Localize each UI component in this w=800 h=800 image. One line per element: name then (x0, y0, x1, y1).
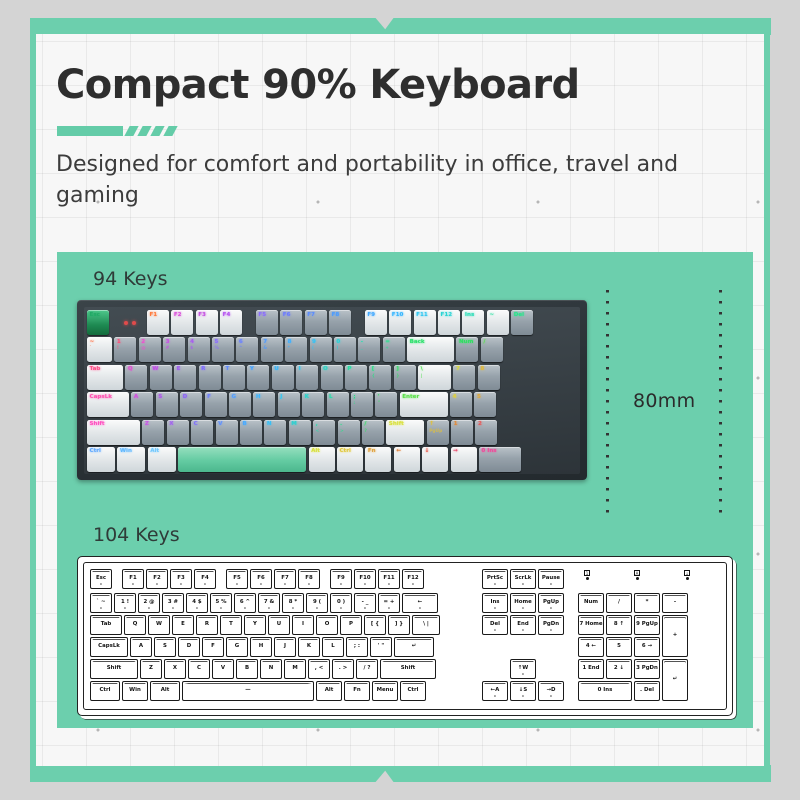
keycap-label: X (169, 422, 173, 428)
keycap-outline: ; : (346, 637, 368, 657)
keycap-label: ↓ (425, 449, 430, 455)
keycap-label: 1 (117, 340, 121, 346)
keycap-outline-label: Tab (101, 622, 111, 627)
keycap-sublabel: { (372, 375, 375, 379)
keycap-outline: Ctrl (90, 681, 120, 701)
keycap-outline-label: ScrLk (515, 576, 532, 581)
keycap: U (272, 365, 294, 390)
keycap-outline-label: F12 (407, 576, 418, 581)
keycap-outline-sublabel: ▫ (187, 607, 207, 611)
keycap-outline: 5 (606, 637, 632, 657)
keycap-outline-sublabel: ▫ (355, 583, 375, 587)
keycap-label: G (231, 395, 236, 401)
keycap: Tab (87, 365, 123, 390)
fullsize-keyboard-row: ShiftZXCVBNM, <. >/ ?Shift (90, 659, 436, 679)
keycap-outline-sublabel: ▫ (511, 673, 535, 677)
keycap-outline-sublabel: ▫ (163, 607, 183, 611)
keycap-sublabel: ) (336, 347, 338, 351)
keycap-outline: ←A▫ (482, 681, 508, 701)
keycap-outline-label: PrtSc (487, 576, 503, 581)
keycap-outline: F8▫ (298, 569, 320, 589)
keycap-label: S (158, 395, 162, 401)
keycap-outline-label: 9 PgUp (636, 622, 658, 627)
keycap: Esc (87, 310, 109, 335)
keycap-outline-label: 0 Ins (598, 688, 613, 693)
keycap-label: M (291, 422, 297, 428)
keycap: F1 (147, 310, 169, 335)
keycap-outline: Ctrl (400, 681, 426, 701)
keycap-label: Tab (90, 367, 101, 373)
fullsize-keyboard-row: ←A▫↓S▫→D▫ (482, 681, 564, 701)
keycap-outline-sublabel: ▫ (403, 607, 437, 611)
keycap: \| (418, 365, 451, 390)
keycap-label: H (256, 395, 261, 401)
keycap-label: → (453, 449, 458, 455)
keycap: 2 (475, 420, 497, 445)
keycap-outline: 5 %▫ (210, 593, 232, 613)
keycap-label: 8 (480, 367, 484, 373)
keycap-outline-label: H (259, 644, 264, 649)
keycap-outline-sublabel: ▫ (235, 607, 255, 611)
keycap-outline-sublabel: ▫ (483, 695, 507, 699)
keycap: T (223, 365, 245, 390)
keycap-outline: E (172, 615, 194, 635)
keycap: =+ (383, 337, 405, 362)
keycap: → (451, 447, 477, 472)
keycap-outline-label: Pause (542, 576, 560, 581)
keycap-label: Alt (150, 449, 159, 455)
keycap-outline-label: ↑W (518, 666, 528, 671)
keycap-outline: / ? (356, 659, 378, 679)
keycap: J (278, 392, 300, 417)
keycap-outline: F4▫ (194, 569, 216, 589)
keycap-label: . (340, 422, 342, 428)
keycap-label: ↑ (429, 422, 434, 428)
keycap-label: F4 (223, 313, 231, 319)
keycap-outline: ↓S▫ (510, 681, 536, 701)
keycap-label: Z (145, 422, 149, 428)
keycap: D (180, 392, 202, 417)
fullsize-keyboard-row: 1 End2 ↓3 PgDn (578, 659, 660, 679)
keycap-outline-label: →D (547, 688, 556, 693)
label-104-keys: 104 Keys (93, 524, 180, 546)
indicator-lamp: 1 (584, 570, 590, 580)
keycap: 1! (114, 337, 136, 362)
keycap-outline: Z (140, 659, 162, 679)
keycap-outline: 9 (▫ (306, 593, 328, 613)
fullsize-keyboard-row: TabQWERTYUIOP[ {] }\ | (90, 615, 440, 635)
keycap-outline-label: PgUp (543, 600, 559, 605)
keycap-outline-label: S (163, 644, 167, 649)
keycap-outline: 6 → (634, 637, 660, 657)
keycap-label: F12 (441, 313, 453, 319)
keycap: Ins (462, 310, 484, 335)
keycap-outline-label: B (245, 666, 249, 671)
frame-top-right-notch (381, 18, 771, 35)
keycap-label: O (323, 367, 328, 373)
keycap-outline: ↑W▫ (510, 659, 536, 679)
keycap-outline-label: ] } (395, 622, 403, 627)
keycap-outline-label: 9 ( (313, 600, 321, 605)
fullsize-keyboard-image: Esc▫F1▫F2▫F3▫F4▫F5▫F6▫F7▫F8▫F9▫F10▫F11▫F… (77, 556, 733, 716)
keycap-outline: F (202, 637, 224, 657)
accent-divider (57, 126, 177, 136)
keycap-outline: F11▫ (378, 569, 400, 589)
keycap-outline-label: Alt (161, 688, 170, 693)
keycap-outline: Pause▫ (538, 569, 564, 589)
keycap-sublabel: > (340, 430, 344, 434)
keycap-sublabel: ` (90, 347, 92, 351)
keycap-outline-label: 2 @ (143, 600, 154, 605)
keycap-outline-sublabel: ▫ (195, 583, 215, 587)
keycap-outline-sublabel: ▫ (511, 607, 535, 611)
keycap-label: 3 (166, 340, 170, 346)
keycap-outline-label: O (325, 622, 330, 627)
keycap: Alt (148, 447, 176, 472)
keycap-outline: U (268, 615, 290, 635)
keycap-outline-sublabel: ▫ (539, 583, 563, 587)
keycap-label: , (316, 422, 318, 428)
keycap-outline-sublabel: ▫ (139, 607, 159, 611)
keycap: F6 (280, 310, 302, 335)
keycap: S (156, 392, 178, 417)
keycap-outline: + (662, 615, 688, 657)
keycap: Ctrl (337, 447, 363, 472)
keycap: Num (456, 337, 478, 362)
keycap: F9 (365, 310, 387, 335)
keycap-outline-sublabel: ▫ (307, 607, 327, 611)
keycap-label: 7 (263, 340, 267, 346)
keycap-label: \ (421, 367, 423, 373)
keycap-outline-label: — (245, 688, 250, 693)
keycap-outline: H (250, 637, 272, 657)
keycap-outline-sublabel: ▫ (355, 607, 375, 611)
keycap-outline-label: [ { (371, 622, 379, 627)
keycap-label: F10 (392, 313, 404, 319)
keycap-label: V (218, 422, 222, 428)
keycap-label: ~ (90, 340, 95, 346)
keycap: F11 (414, 310, 436, 335)
keycap-outline: L (322, 637, 344, 657)
keycap-outline-sublabel: ▫ (539, 607, 563, 611)
keycap-outline-label: G (235, 644, 239, 649)
keycap-label: ; (353, 395, 355, 401)
keycap-outline-label: L (331, 644, 334, 649)
keycap: 2@ (139, 337, 161, 362)
compact-keyboard-keys: EscF1F2F3F4F5F6F7F8F9F10F11F12Ins~Del~`1… (84, 307, 580, 474)
keycap-outline: M (284, 659, 306, 679)
keycap-label: F (207, 395, 211, 401)
keycap-outline-sublabel: ▫ (403, 583, 423, 587)
keycap-outline-label: X (173, 666, 177, 671)
keycap-label: 4 (190, 340, 194, 346)
keycap-outline: S (154, 637, 176, 657)
keycap-outline-label: \ | (423, 622, 429, 627)
keycap-outline: V (212, 659, 234, 679)
keycap-label: CapsLk (90, 395, 113, 401)
keycap-label: = (385, 340, 390, 346)
keycap-outline: ←▫ (402, 593, 438, 613)
keycap: -_ (358, 337, 380, 362)
keycap: ~` (87, 337, 112, 362)
keycap-label: 2 (141, 340, 145, 346)
keycap-outline-label: ↓S (519, 688, 527, 693)
keycap-outline-label: 7 & (264, 600, 274, 605)
keycap-outline-label: M (292, 666, 297, 671)
keycap-outline-label: ↵ (412, 644, 417, 649)
keycap-outline-sublabel: ▫ (331, 583, 351, 587)
keycap-outline: K (298, 637, 320, 657)
keycap-label: F2 (174, 313, 182, 319)
keycap-label: Q (128, 367, 133, 373)
keycap: ]} (394, 365, 416, 390)
keycap: 4 (450, 392, 472, 417)
keycap-outline-label: N (269, 666, 274, 671)
keycap-sublabel: " (378, 402, 380, 406)
keycap-outline-label: 4 $ (192, 600, 201, 605)
keycap-outline-label: R (205, 622, 209, 627)
label-94-keys: 94 Keys (93, 268, 168, 290)
keycap-outline-sublabel: ▫ (331, 607, 351, 611)
keycap-outline-sublabel: ▫ (259, 607, 279, 611)
keycap-outline: N (260, 659, 282, 679)
keycap: F7 (305, 310, 327, 335)
keycap-label: Ins (465, 313, 474, 319)
keycap-outline: T (220, 615, 242, 635)
keycap: ,< (313, 420, 335, 445)
keycap-label: Win (120, 449, 132, 455)
keycap-outline: F1▫ (122, 569, 144, 589)
keycap-label: L (329, 395, 333, 401)
keycap-outline-sublabel: ▫ (123, 583, 143, 587)
keycap: Z (142, 420, 164, 445)
keycap-outline-label: Menu (377, 688, 394, 693)
keycap-outline: Esc▫ (90, 569, 112, 589)
keycap-outline-label: + (673, 633, 678, 638)
keycap-outline-label: E (181, 622, 185, 627)
keycap-outline: 1 End (578, 659, 604, 679)
key-gap (245, 310, 254, 335)
keycap-outline-label: End (517, 622, 528, 627)
indicator-lamp: A (634, 570, 640, 580)
keycap-label: J (280, 395, 282, 401)
keycap-outline-label: F11 (383, 576, 394, 581)
keycap-label: 8 (288, 340, 292, 346)
keycap-sublabel: ( (312, 347, 314, 351)
keycap: M (289, 420, 311, 445)
keycap-outline-label: Alt (325, 688, 334, 693)
keycap-outline-sublabel: ▫ (147, 583, 167, 587)
keycap-label: P (347, 367, 351, 373)
frame-bottom-left-notch (30, 765, 390, 782)
keycap-label: Y (250, 367, 254, 373)
keycap-outline-label: Y (253, 622, 257, 627)
keycap-outline-label: 6 ^ (240, 600, 250, 605)
keycap-label: C (194, 422, 198, 428)
keycap: Shift (87, 420, 140, 445)
fullsize-keyboard-keys: Esc▫F1▫F2▫F3▫F4▫F5▫F6▫F7▫F8▫F9▫F10▫F11▫F… (83, 562, 727, 710)
dimension-label-80mm: 80mm (633, 390, 695, 412)
keycap: B (240, 420, 262, 445)
keycap-label: F3 (198, 313, 206, 319)
keycap: A (131, 392, 153, 417)
accent-slash-1 (124, 126, 138, 136)
keycap: 6^ (236, 337, 258, 362)
keycap: F (205, 392, 227, 417)
keycap: 3# (163, 337, 185, 362)
keycap-outline-label: F8 (305, 576, 312, 581)
keycap-outline-label: W (156, 622, 162, 627)
keycap-outline: Win (122, 681, 148, 701)
keycap-outline: Alt (316, 681, 342, 701)
keycap-outline-label: Ins (490, 600, 499, 605)
key-gap (353, 310, 362, 335)
keycap-label: F5 (258, 313, 266, 319)
keycap-outline-label: T (229, 622, 233, 627)
keycap-outline: I (292, 615, 314, 635)
keycap-outline: P (340, 615, 362, 635)
keycap-outline: [ { (364, 615, 386, 635)
keycap-sublabel: _ (361, 347, 363, 351)
keycap-label: 0 (336, 340, 340, 346)
keycap: 9( (310, 337, 332, 362)
keycap-outline: / (606, 593, 632, 613)
keycap-outline-sublabel: ▫ (483, 583, 507, 587)
keycap-label: Num (459, 340, 474, 346)
keycap-sublabel: < (316, 430, 320, 434)
indicator-label: 1 (584, 571, 590, 576)
fullsize-keyboard-row: 0 Ins. Del (578, 681, 660, 701)
frame-bottom-right-notch (381, 765, 771, 782)
keycap-outline: ↵ (394, 637, 434, 657)
keycap: O (321, 365, 343, 390)
keycap-label: Fn (368, 449, 376, 455)
keycap-outline: , < (308, 659, 330, 679)
fullsize-keyboard-row: Ins▫Home▫PgUp▫ (482, 593, 564, 613)
keycap-sublabel: | (421, 375, 423, 379)
keycap-label: [ (372, 367, 375, 373)
keycap-outline-label: F3 (177, 576, 184, 581)
keycap: F4 (220, 310, 242, 335)
keycap-outline-label: / (618, 600, 620, 605)
keycap: F8 (329, 310, 351, 335)
keycap: 7& (261, 337, 283, 362)
keycap-sublabel: * (288, 347, 290, 351)
key-gap (140, 310, 145, 335)
keycap-outline: Del▫ (482, 615, 508, 635)
keycap-outline-sublabel: ▫ (171, 583, 191, 587)
fullsize-keyboard-row: Del▫End▫PgDn▫ (482, 615, 564, 635)
keycap-outline-label: F10 (359, 576, 370, 581)
keycap-outline: 8 ↑ (606, 615, 632, 635)
keycap-label: 1 (454, 422, 458, 428)
keycap: F10 (389, 310, 411, 335)
keycap: F2 (171, 310, 193, 335)
keycap-label: E (177, 367, 181, 373)
keycap-label: F1 (149, 313, 157, 319)
keycap: R (199, 365, 221, 390)
keycap-outline-label: V (221, 666, 225, 671)
keycap-outline: Y (244, 615, 266, 635)
keycap: C (191, 420, 213, 445)
keycap-sublabel: : (353, 402, 355, 406)
keycap-outline-sublabel: ▫ (511, 583, 535, 587)
keycap: ↓ (422, 447, 448, 472)
keycap-outline: Alt (150, 681, 180, 701)
keycap: X (167, 420, 189, 445)
keycap-outline-label: Home (514, 600, 532, 605)
keycap: L (327, 392, 349, 417)
keycap-outline: . Del (634, 681, 660, 701)
keycap-label: / (364, 422, 366, 428)
keycap-outline: F5▫ (226, 569, 248, 589)
keycap-outline: 7 &▫ (258, 593, 280, 613)
keycap-label: Enter (402, 395, 419, 401)
keycap-outline: Ins▫ (482, 593, 508, 613)
keycap-label: W (152, 367, 158, 373)
keycap-outline: 3 #▫ (162, 593, 184, 613)
frame-top-left-notch (30, 18, 390, 35)
keycap: Ctrl (87, 447, 115, 472)
compact-keyboard-row: ~`1!2@3#4$5%6^7&8*9(0)-_=+BackNum/ (87, 337, 577, 362)
keycap-sublabel: + (385, 347, 389, 351)
keycap-outline-label: F9 (337, 576, 344, 581)
measure-dotted-line-left (606, 290, 609, 518)
keycap: Enter (400, 392, 448, 417)
keycap-outline: Shift (380, 659, 436, 679)
keycap-outline: Num (578, 593, 604, 613)
keycap: .> (338, 420, 360, 445)
keycap-outline: — (182, 681, 314, 701)
keycap-outline: Shift (90, 659, 138, 679)
keycap-outline-label: 1 ! (121, 600, 129, 605)
page-title: Compact 90% Keyboard (56, 62, 580, 108)
content-card: Compact 90% Keyboard Designed for comfor… (36, 34, 764, 766)
keycap: '" (375, 392, 397, 417)
keycap-outline-sublabel: ▫ (379, 583, 399, 587)
keycap-outline-label: = + (384, 600, 395, 605)
keycap: W (150, 365, 172, 390)
keycap-outline-sublabel: ▫ (115, 607, 135, 611)
keycap-outline: Q (124, 615, 146, 635)
keycap-label: Back (410, 340, 425, 346)
keycap-outline: ` ~▫ (90, 593, 112, 613)
keycap-outline: F12▫ (402, 569, 424, 589)
keycap: Shift (386, 420, 424, 445)
keycap-label: F6 (283, 313, 291, 319)
keycap-label: 5 (214, 340, 218, 346)
keycap-outline: \ | (412, 615, 440, 635)
keycap-label: I (299, 367, 301, 373)
measure-dotted-line-right (719, 290, 722, 518)
keycap-label: A (134, 395, 138, 401)
keycap: F12 (438, 310, 460, 335)
keycap-outline: F2▫ (146, 569, 168, 589)
keycap-outline-label: F (211, 644, 215, 649)
keycap-label: 4 (453, 395, 457, 401)
keycap: Del (511, 310, 533, 335)
status-led (124, 321, 128, 325)
keycap-outline-label: Shift (401, 666, 416, 671)
keycap-label: N (267, 422, 272, 428)
keycap-outline-label: 2 ↓ (614, 666, 624, 671)
keycap: Win (117, 447, 145, 472)
keycap-outline-sublabel: ▫ (251, 583, 271, 587)
keycap-label: Shift (90, 422, 105, 428)
keycap: P (345, 365, 367, 390)
keycap-label: F11 (416, 313, 428, 319)
keycap: [{ (369, 365, 391, 390)
